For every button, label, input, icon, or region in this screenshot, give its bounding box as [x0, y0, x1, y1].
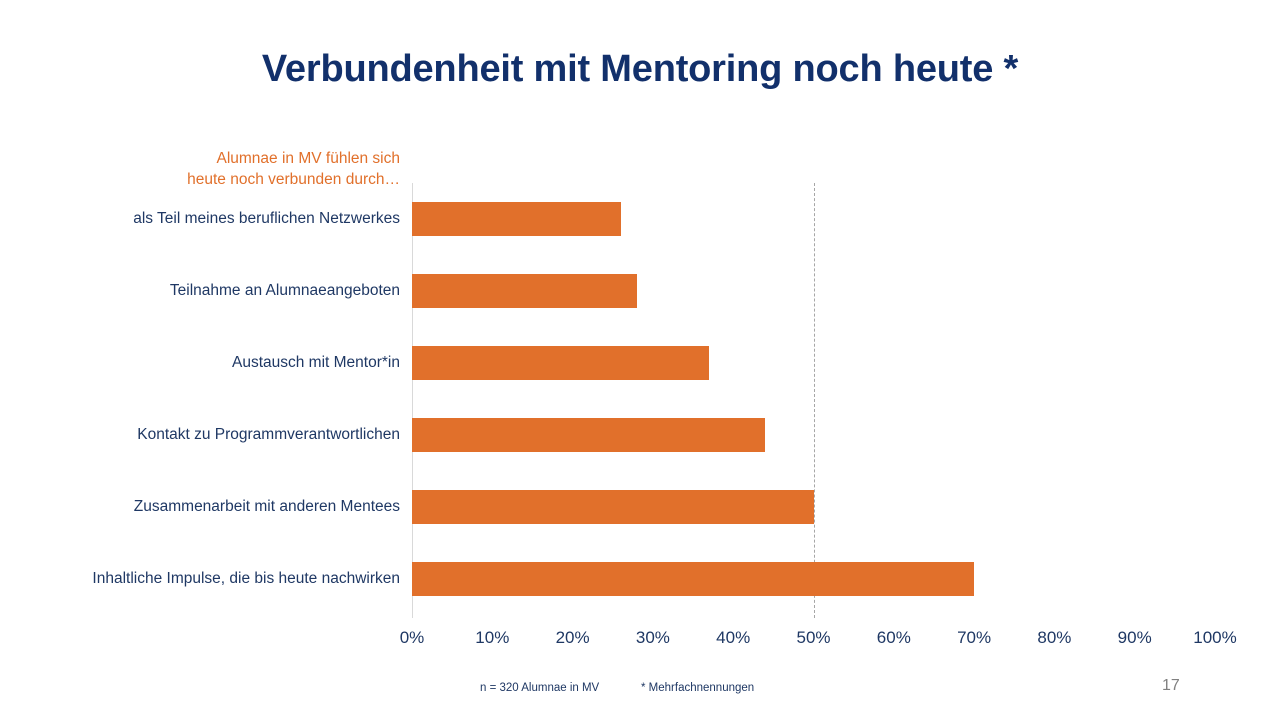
- bar-chart: Alumnae in MV fühlen sich heute noch ver…: [0, 0, 1280, 720]
- page-number: 17: [1162, 677, 1180, 695]
- bar-2: [412, 346, 709, 380]
- x-tick-label-5: 50%: [774, 628, 854, 648]
- x-tick-label-3: 30%: [613, 628, 693, 648]
- x-tick-label-2: 20%: [533, 628, 613, 648]
- plot-area: [412, 183, 1215, 618]
- x-tick-label-4: 40%: [693, 628, 773, 648]
- series-header: Alumnae in MV fühlen sich heute noch ver…: [60, 148, 400, 190]
- footnote-sample-size: n = 320 Alumnae in MV: [480, 682, 599, 694]
- category-label-0: als Teil meines beruflichen Netzwerkes: [20, 210, 400, 228]
- category-label-1: Teilnahme an Alumnaeangeboten: [20, 282, 400, 300]
- x-tick-label-1: 10%: [452, 628, 532, 648]
- category-label-2: Austausch mit Mentor*in: [20, 354, 400, 372]
- series-header-line-2: heute noch verbunden durch…: [60, 169, 400, 190]
- x-tick-label-8: 80%: [1014, 628, 1094, 648]
- category-label-5: Inhaltliche Impulse, die bis heute nachw…: [20, 570, 400, 588]
- bar-5: [412, 562, 974, 596]
- x-tick-label-9: 90%: [1095, 628, 1175, 648]
- series-header-line-1: Alumnae in MV fühlen sich: [60, 148, 400, 169]
- x-tick-label-10: 100%: [1175, 628, 1255, 648]
- x-tick-label-0: 0%: [372, 628, 452, 648]
- category-label-3: Kontakt zu Programmverantwortlichen: [20, 426, 400, 444]
- x-tick-label-6: 60%: [854, 628, 934, 648]
- category-label-4: Zusammenarbeit mit anderen Mentees: [20, 498, 400, 516]
- x-tick-label-7: 70%: [934, 628, 1014, 648]
- bar-0: [412, 202, 621, 236]
- bar-4: [412, 490, 814, 524]
- bar-1: [412, 274, 637, 308]
- footnote-multiple-answers: * Mehrfachnennungen: [641, 682, 754, 694]
- bar-3: [412, 418, 765, 452]
